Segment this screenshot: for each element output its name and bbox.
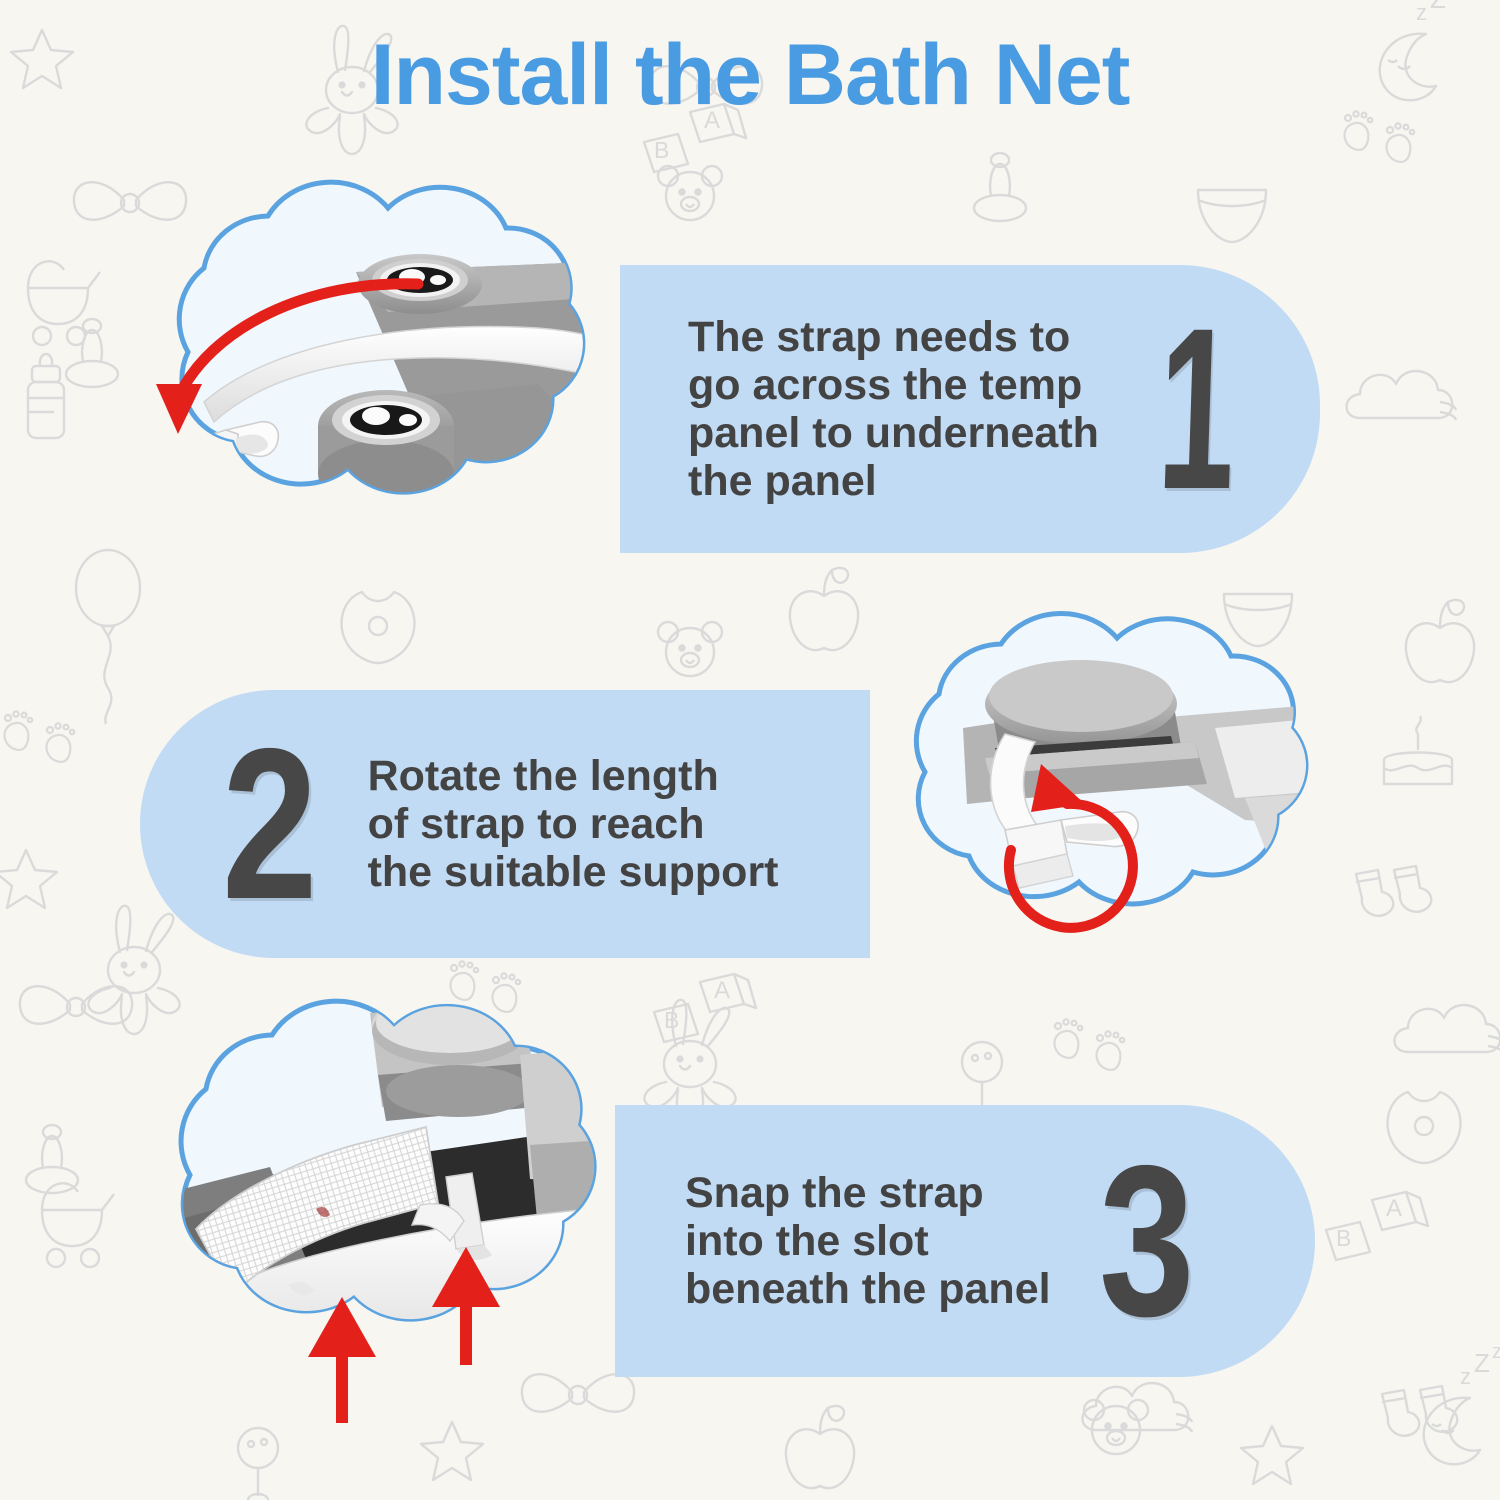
step-3-banner: Snap the strap into the slot beneath the…: [615, 1105, 1315, 1377]
step-1-text: The strap needs to go across the temp pa…: [688, 313, 1099, 506]
step-3-illustration: [120, 995, 650, 1475]
step-1-banner: The strap needs to go across the temp pa…: [620, 265, 1320, 553]
step-2-illustration: [855, 608, 1360, 1038]
step-2-number: 2: [222, 738, 318, 910]
strap-clip-icon: [180, 422, 278, 488]
step-2-text: Rotate the length of strap to reach the …: [368, 752, 779, 896]
step-2-banner: 2 Rotate the length of strap to reach th…: [140, 690, 870, 958]
step-3-text: Snap the strap into the slot beneath the…: [685, 1169, 1051, 1313]
step-1-illustration: [118, 176, 638, 636]
page-title: Install the Bath Net: [0, 26, 1500, 125]
step-1-number: 1: [1156, 317, 1239, 501]
step-3-number: 3: [1099, 1155, 1195, 1327]
